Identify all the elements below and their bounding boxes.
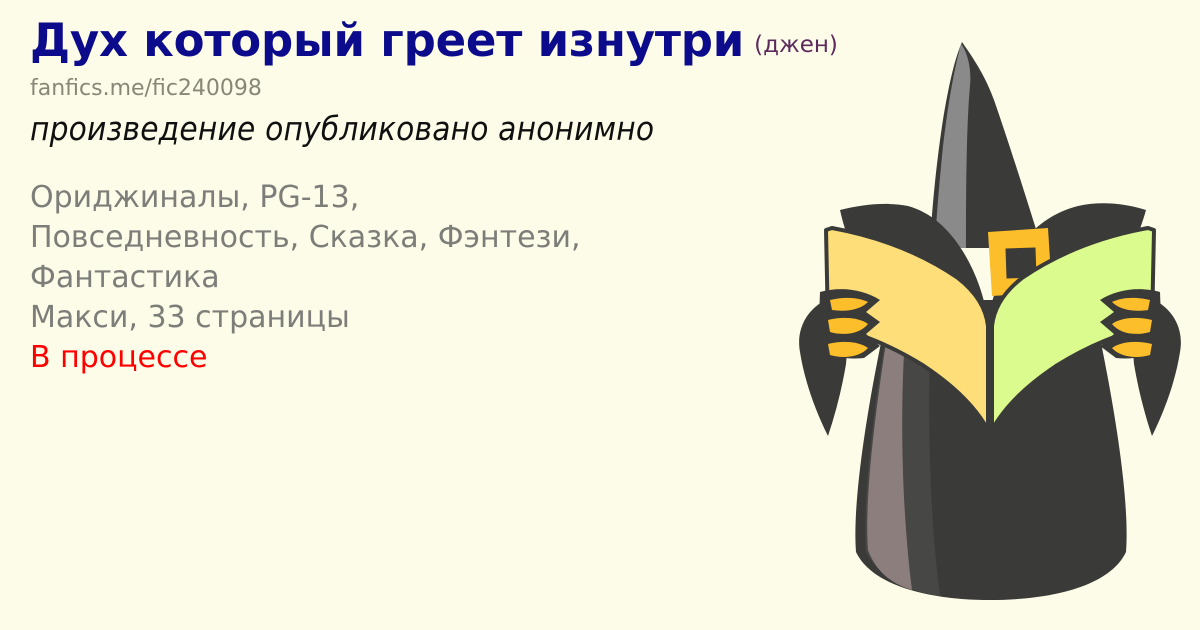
fic-status-badge: В процессе — [30, 338, 910, 378]
fic-title[interactable]: Дух который греет изнутри — [30, 14, 744, 67]
fic-meta-block: Ориджиналы, PG-13, Повседневность, Сказк… — [30, 178, 910, 377]
title-row: Дух который греет изнутри(джен) — [30, 18, 910, 63]
fic-preview-card: Дух который греет изнутри(джен) fanfics.… — [0, 0, 1200, 630]
fic-meta-line: Фантастика — [30, 258, 910, 298]
fic-meta-line: Повседневность, Сказка, Фэнтези, — [30, 218, 910, 258]
book-spine — [989, 320, 991, 430]
fic-meta-line: Ориджиналы, PG-13, — [30, 178, 910, 218]
fic-url[interactable]: fanfics.me/fic240098 — [30, 76, 910, 101]
fic-meta-line: Макси, 33 страницы — [30, 298, 910, 338]
fic-info-column: Дух который греет изнутри(джен) fanfics.… — [30, 18, 910, 377]
fic-author-line: произведение опубликовано анонимно — [30, 109, 910, 148]
fic-rating-tag: (джен) — [754, 32, 838, 58]
